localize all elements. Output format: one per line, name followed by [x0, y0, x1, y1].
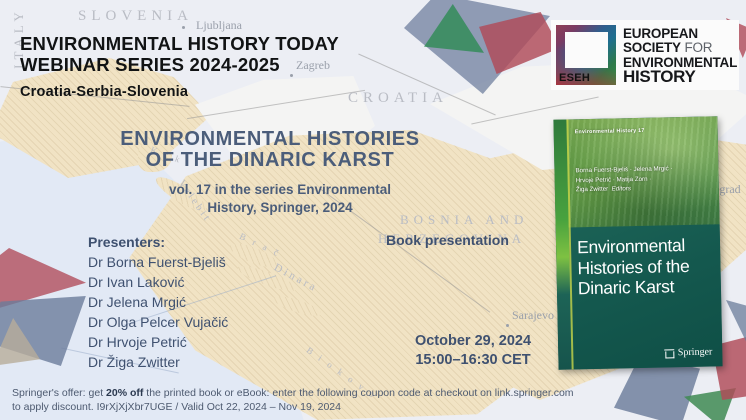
presenters-heading: Presenters:	[88, 234, 228, 250]
presenter-name: Dr Hrvoje Petrić	[88, 332, 228, 352]
springer-logo: Springer	[664, 346, 713, 358]
map-city-label: Zagreb	[296, 58, 330, 73]
footer-line-2: to apply discount. I9rXjXjXbr7UGE / Vali…	[12, 400, 574, 414]
header-line-1: ENVIRONMENTAL HISTORY TODAY	[20, 33, 339, 55]
footer-line-1: Springer's offer: get 20% off the printe…	[12, 386, 574, 400]
map-city-dot	[290, 74, 293, 77]
eseh-line-european: EUROPEAN	[623, 27, 737, 42]
springer-wordmark: Springer	[678, 346, 713, 358]
book-editors-names-3: Žiga Zwitter	[576, 186, 608, 194]
series-subtitle-line-2: History, Springer, 2024	[20, 200, 540, 215]
book-editors-role: Editors	[612, 185, 631, 192]
footer-text-part2: the printed book or eBook: enter the fol…	[143, 387, 573, 399]
presenter-name: Dr Žiga Zwitter	[88, 352, 228, 372]
eseh-square-mark-icon: ESEH	[556, 25, 616, 85]
book-cover-title: Environmental Histories of the Dinaric K…	[577, 234, 711, 298]
presenters-block: Presenters: Dr Borna Fuerst-BjelišDr Iva…	[88, 234, 228, 372]
presenter-name: Dr Olga Pelcer Vujačić	[88, 312, 228, 332]
map-city-dot	[506, 324, 509, 327]
eseh-for-word: FOR	[684, 40, 712, 55]
eseh-society-text: SOCIETY	[623, 40, 681, 55]
series-subtitle-line-1: vol. 17 in the series Environmental	[20, 182, 540, 197]
webinar-poster: SLOVENIACROATIAITALYBOSNIA ANDHERZEGOVIN…	[0, 0, 746, 420]
map-city-dot	[182, 26, 185, 29]
eseh-line-society-for: SOCIETY FOR	[623, 41, 737, 56]
map-city-label: Sarajevo	[512, 308, 554, 323]
presenter-name: Dr Borna Fuerst-Bjeliš	[88, 252, 228, 272]
eseh-acronym-label: ESEH	[559, 72, 590, 84]
footer-discount-badge: 20% off	[106, 387, 143, 399]
book-cover[interactable]: Environmental History 17 Borna Fuerst-Bj…	[553, 116, 722, 369]
springer-offer-footer: Springer's offer: get 20% off the printe…	[12, 386, 574, 414]
eseh-logo[interactable]: ESEH EUROPEAN SOCIETY FOR ENVIRONMENTAL …	[551, 20, 739, 90]
header-line-2: WEBINAR SERIES 2024-2025	[20, 54, 280, 76]
presenters-list: Dr Borna Fuerst-BjelišDr Ivan LakovićDr …	[88, 252, 228, 372]
book-editors-block: Borna Fuerst-Bjeliš · Jelena Mrgić · Hrv…	[575, 163, 711, 194]
eseh-inner-square	[565, 32, 608, 68]
footer-text-part1: Springer's offer: get	[12, 387, 106, 399]
eseh-line-history: HISTORY	[623, 70, 737, 85]
eseh-wordmark: EUROPEAN SOCIETY FOR ENVIRONMENTAL HISTO…	[623, 26, 737, 85]
map-city-label: Ljubljana	[196, 18, 242, 33]
presenter-name: Dr Ivan Laković	[88, 272, 228, 292]
springer-horse-icon	[664, 347, 674, 358]
book-presentation-label: Book presentation	[386, 232, 509, 248]
map-label: CROATIA	[348, 90, 448, 107]
header-subtitle-countries: Croatia-Serbia-Slovenia	[20, 84, 188, 100]
event-datetime-block: October 29, 2024 15:00–16:30 CET	[388, 332, 558, 370]
presenter-name: Dr Jelena Mrgić	[88, 292, 228, 312]
event-time: 15:00–16:30 CET	[388, 351, 558, 370]
main-title-line-2: OF THE DINARIC KARST	[0, 149, 540, 172]
event-date: October 29, 2024	[388, 332, 558, 351]
main-title-line-1: ENVIRONMENTAL HISTORIES	[0, 128, 540, 151]
map-label: SLOVENIA	[78, 8, 193, 25]
